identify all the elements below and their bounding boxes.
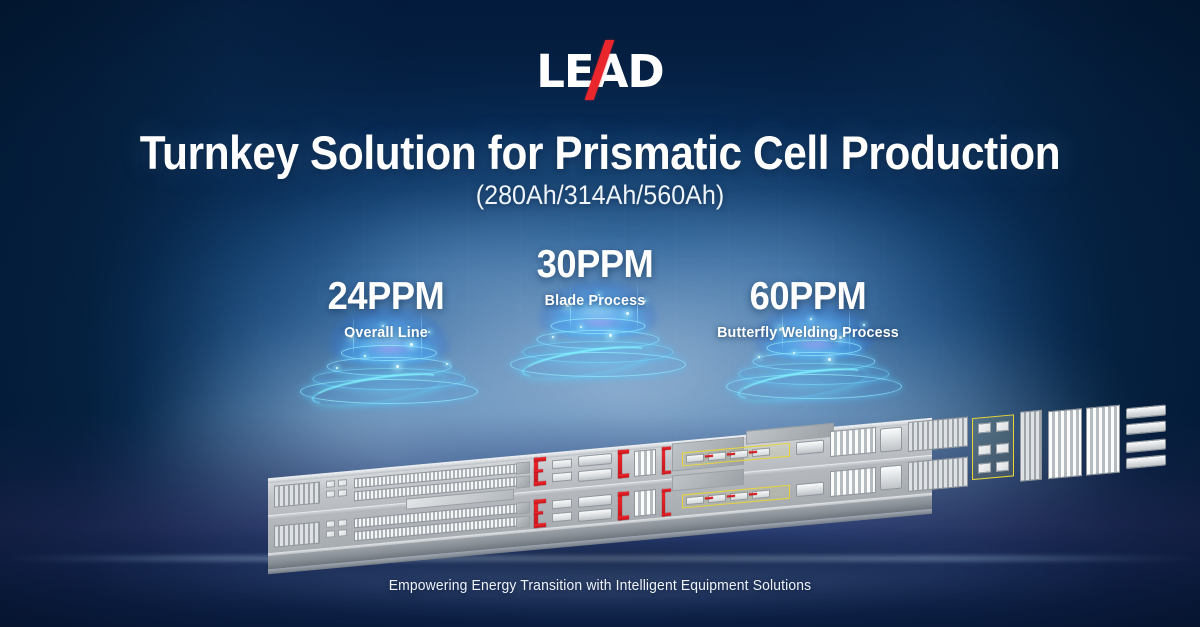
module-block: [326, 490, 335, 498]
conveyor-segment: [552, 499, 572, 510]
module-block: [326, 530, 335, 538]
roller-bank: [830, 427, 876, 457]
metric-value: 24PPM: [293, 275, 479, 319]
module-block: [996, 461, 1009, 472]
module-block: [978, 422, 991, 433]
module-block: [516, 501, 530, 514]
module-stack: [274, 481, 320, 507]
process-tank: [880, 465, 902, 491]
production-line-graphic: [268, 440, 932, 562]
poster-canvas: LEAD Turnkey Solution for Prismatic Cell…: [0, 0, 1200, 627]
holo-spark: [793, 352, 795, 354]
metric-badge-overall-line: 24PPM Overall Line: [286, 275, 486, 342]
conveyor-segment: [552, 459, 572, 470]
metric-label: Overall Line: [291, 323, 481, 342]
metric-label: Butterfly Welding Process: [711, 323, 905, 342]
module-block: [996, 421, 1009, 432]
footer-tagline: Empowering Energy Transition with Intell…: [24, 578, 1176, 594]
roller-bank: [830, 467, 876, 497]
module-stack: [908, 417, 968, 452]
process-tank: [796, 440, 824, 456]
holo-spark: [446, 363, 448, 365]
roller-bank: [634, 489, 656, 517]
metric-label: Blade Process: [500, 291, 690, 310]
metric-value: 60PPM: [713, 275, 903, 319]
roller-bank: [1048, 408, 1082, 479]
roller-bank: [1086, 405, 1120, 476]
module-block: [978, 462, 991, 473]
metric-value: 30PPM: [502, 243, 688, 287]
holo-spark: [336, 367, 338, 369]
lead-logo: LEAD: [525, 44, 675, 100]
module-block: [326, 520, 335, 528]
roller-bank: [634, 449, 656, 477]
module-block: [978, 444, 991, 455]
module-block: [338, 519, 347, 527]
page-subtitle: (280Ah/314Ah/560Ah): [42, 178, 1158, 212]
module-block: [516, 515, 530, 528]
process-tank: [796, 482, 824, 498]
holo-spark: [609, 334, 612, 337]
module-stack: [274, 521, 320, 547]
metric-badge-blade-process: 30PPM Blade Process: [495, 243, 695, 310]
module-stack: [908, 457, 968, 492]
process-tank: [880, 427, 902, 453]
conveyor-segment: [686, 496, 704, 506]
module-block: [516, 461, 530, 474]
module-block: [996, 443, 1009, 454]
module-stack: [1020, 410, 1042, 482]
module-block: [326, 480, 335, 488]
conveyor-segment: [552, 512, 572, 523]
module-block: [338, 489, 347, 497]
module-block: [516, 475, 530, 488]
module-block: [338, 529, 347, 537]
conveyor-segment: [552, 472, 572, 483]
conveyor-segment: [686, 454, 704, 464]
metric-badge-butterfly-welding: 60PPM Butterfly Welding Process: [706, 275, 910, 342]
holo-spark: [758, 356, 760, 358]
page-title: Turnkey Solution for Prismatic Cell Prod…: [60, 126, 1140, 180]
module-block: [338, 479, 347, 487]
